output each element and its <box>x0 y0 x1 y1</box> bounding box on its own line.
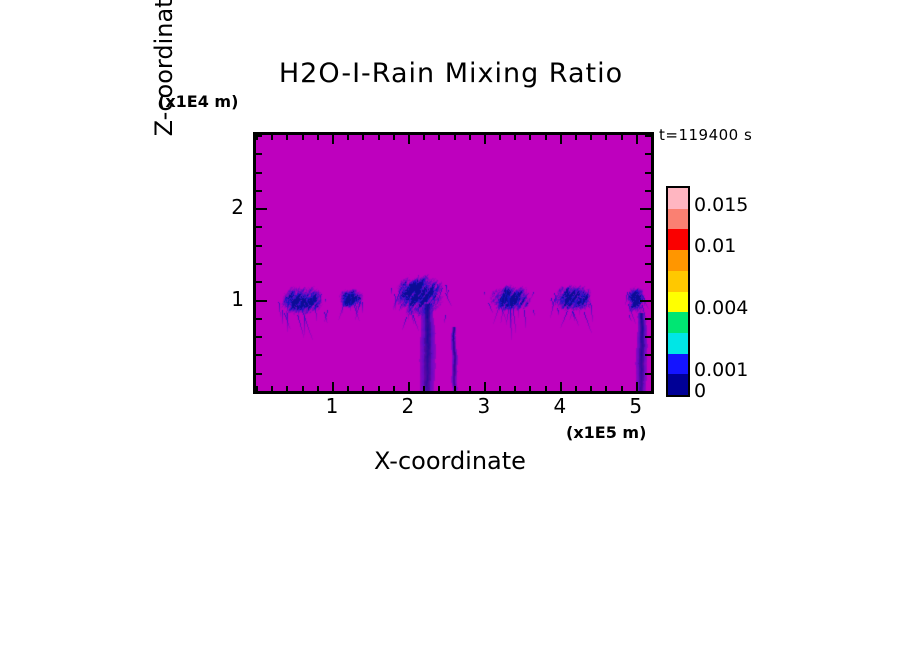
colorbar-band-1 <box>668 209 688 230</box>
x-minor-tick <box>317 386 319 391</box>
colorbar-band-3 <box>668 250 688 271</box>
colorbar-label: 0.01 <box>694 235 736 257</box>
x-axis-title: X-coordinate <box>300 447 600 475</box>
colorbar-label: 0 <box>694 380 706 402</box>
x-major-tick-top <box>332 135 334 144</box>
x-minor-tick <box>621 386 623 391</box>
x-minor-tick <box>378 386 380 391</box>
x-major-tick-top <box>408 135 410 144</box>
y-axis-title: Z-coordinate <box>150 0 178 160</box>
y-minor-tick <box>256 263 262 265</box>
x-minor-tick-top <box>302 135 304 140</box>
y-minor-tick <box>256 373 262 375</box>
y-minor-tick <box>256 226 262 228</box>
colorbar-band-7 <box>668 333 688 354</box>
x-minor-tick-top <box>499 135 501 140</box>
x-minor-tick-top <box>605 135 607 140</box>
colorbar-band-4 <box>668 271 688 292</box>
colorbar-band-9 <box>668 374 688 395</box>
colorbar-label: 0.015 <box>694 194 748 216</box>
x-minor-tick <box>302 386 304 391</box>
y-tick-label: 1 <box>220 287 244 311</box>
colorbar-band-2 <box>668 229 688 250</box>
x-minor-tick-top <box>575 135 577 140</box>
y-minor-tick-right <box>645 318 651 320</box>
x-minor-tick-top <box>378 135 380 140</box>
x-minor-tick <box>438 386 440 391</box>
x-major-tick <box>408 382 410 391</box>
x-tick-label: 5 <box>621 394 651 418</box>
rain-mixing-ratio-field <box>256 135 651 391</box>
x-minor-tick-top <box>590 135 592 140</box>
x-minor-tick-top <box>651 135 653 140</box>
x-tick-label: 4 <box>545 394 575 418</box>
y-minor-tick <box>256 391 262 393</box>
y-minor-tick-right <box>645 373 651 375</box>
colorbar-label: 0.001 <box>694 359 748 381</box>
x-minor-tick <box>545 386 547 391</box>
x-minor-tick <box>529 386 531 391</box>
y-minor-tick <box>256 354 262 356</box>
x-tick-label: 1 <box>317 394 347 418</box>
plot-area <box>253 132 654 394</box>
x-minor-tick-top <box>529 135 531 140</box>
x-minor-tick <box>423 386 425 391</box>
x-major-tick <box>560 382 562 391</box>
y-minor-tick <box>256 153 262 155</box>
x-minor-tick-top <box>469 135 471 140</box>
colorbar-band-0 <box>668 188 688 209</box>
x-minor-tick-top <box>514 135 516 140</box>
x-minor-tick-top <box>362 135 364 140</box>
y-major-tick <box>256 208 267 210</box>
x-minor-tick-top <box>347 135 349 140</box>
x-minor-tick <box>347 386 349 391</box>
x-minor-tick-top <box>286 135 288 140</box>
x-minor-tick-top <box>423 135 425 140</box>
page-title: H2O-I-Rain Mixing Ratio <box>253 58 649 89</box>
y-minor-tick <box>256 172 262 174</box>
y-minor-tick-right <box>645 135 651 137</box>
x-minor-tick-top <box>621 135 623 140</box>
figure-canvas: H2O-I-Rain Mixing Ratio (x1E4 m) (x1E5 m… <box>0 0 904 654</box>
y-minor-tick-right <box>645 391 651 393</box>
x-minor-tick-top <box>438 135 440 140</box>
y-minor-tick-right <box>645 336 651 338</box>
y-minor-tick-right <box>645 245 651 247</box>
x-minor-tick <box>590 386 592 391</box>
x-minor-tick <box>362 386 364 391</box>
y-minor-tick <box>256 318 262 320</box>
time-annotation: t=119400 s <box>659 126 752 144</box>
y-minor-tick <box>256 135 262 137</box>
x-minor-tick <box>469 386 471 391</box>
x-minor-tick <box>514 386 516 391</box>
x-minor-tick <box>605 386 607 391</box>
colorbar-band-6 <box>668 312 688 333</box>
x-major-tick-top <box>484 135 486 144</box>
y-minor-tick <box>256 336 262 338</box>
y-minor-tick-right <box>645 226 651 228</box>
y-minor-tick-right <box>645 172 651 174</box>
x-minor-tick <box>499 386 501 391</box>
y-tick-label: 2 <box>220 195 244 219</box>
y-minor-tick <box>256 245 262 247</box>
colorbar-band-5 <box>668 292 688 313</box>
y-minor-tick-right <box>645 263 651 265</box>
x-major-tick <box>484 382 486 391</box>
x-minor-tick-top <box>317 135 319 140</box>
y-major-tick-right <box>640 208 651 210</box>
x-axis-unit-label: (x1E5 m) <box>566 423 646 442</box>
x-major-tick <box>636 382 638 391</box>
x-minor-tick <box>651 386 653 391</box>
y-minor-tick <box>256 281 262 283</box>
x-major-tick <box>332 382 334 391</box>
y-minor-tick-right <box>645 190 651 192</box>
colorbar <box>666 186 690 397</box>
colorbar-band-8 <box>668 354 688 375</box>
x-minor-tick-top <box>454 135 456 140</box>
x-minor-tick <box>286 386 288 391</box>
x-minor-tick-top <box>393 135 395 140</box>
colorbar-label: 0.004 <box>694 297 748 319</box>
x-minor-tick <box>575 386 577 391</box>
y-minor-tick <box>256 190 262 192</box>
x-minor-tick <box>393 386 395 391</box>
y-minor-tick-right <box>645 354 651 356</box>
x-tick-label: 3 <box>469 394 499 418</box>
x-major-tick-top <box>636 135 638 144</box>
x-minor-tick <box>271 386 273 391</box>
x-minor-tick-top <box>545 135 547 140</box>
x-minor-tick <box>454 386 456 391</box>
x-major-tick-top <box>560 135 562 144</box>
y-minor-tick-right <box>645 153 651 155</box>
x-tick-label: 2 <box>393 394 423 418</box>
y-minor-tick-right <box>645 281 651 283</box>
y-major-tick-right <box>640 300 651 302</box>
y-major-tick <box>256 300 267 302</box>
x-minor-tick-top <box>271 135 273 140</box>
